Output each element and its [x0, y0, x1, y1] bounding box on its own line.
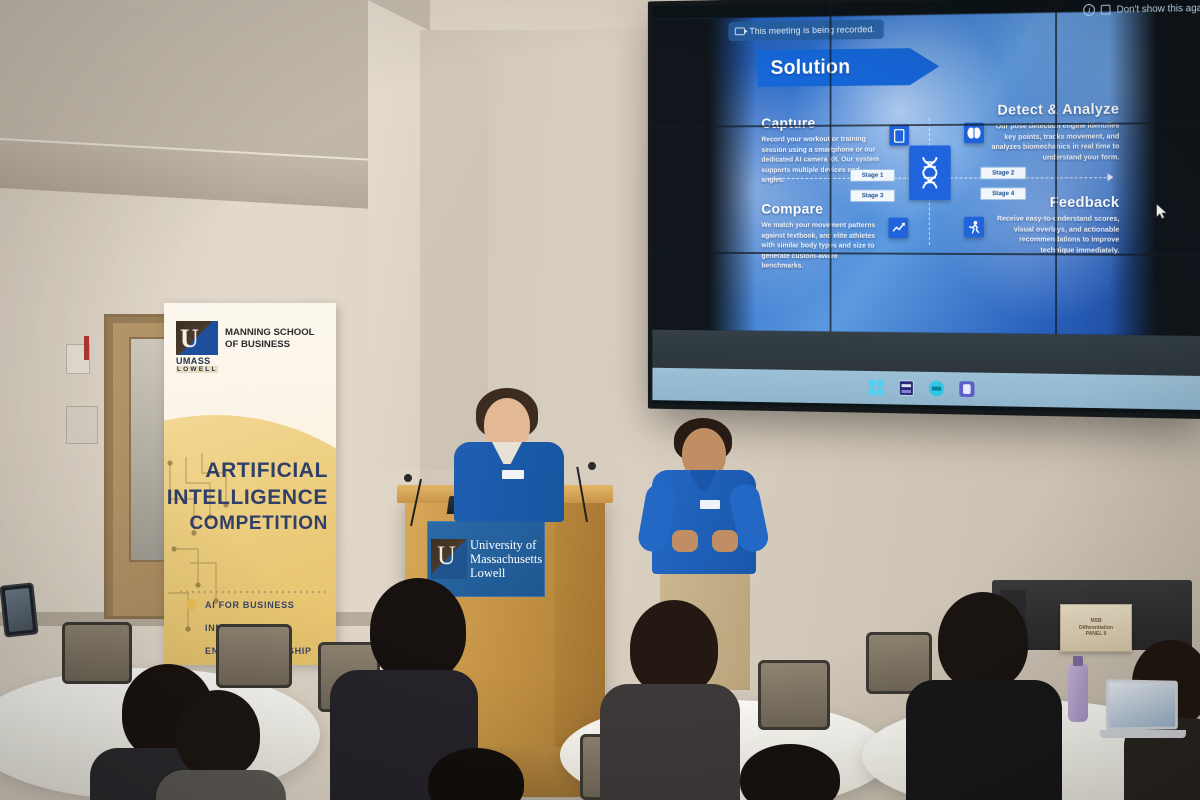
presenter-b-right-hand — [712, 530, 738, 552]
zoom-app-icon[interactable] — [929, 381, 944, 397]
podium-sign-line-1: University of — [470, 538, 542, 552]
audience-laptop — [1100, 680, 1186, 742]
dont-show-again-checkbox[interactable] — [1101, 5, 1111, 15]
audience-head — [938, 592, 1028, 690]
audience-head — [176, 690, 260, 778]
logo-lowell-text: LOWELL — [176, 366, 218, 373]
audience-head — [740, 744, 840, 800]
bullet-label-1: AI FOR BUSINESS — [205, 600, 295, 610]
podium-sign-line-3: Lowell — [470, 566, 542, 580]
feedback-body: Receive easy-to-understand scores, visua… — [984, 214, 1119, 256]
display-bezel-seam — [830, 3, 832, 332]
water-bottle — [1068, 664, 1088, 722]
smartphone-device-icon — [0, 582, 39, 637]
compare-body: We match your movement patterns against … — [761, 220, 882, 271]
slide-quadrant-compare: Compare We match your movement patterns … — [761, 201, 882, 272]
audience-member — [156, 690, 286, 800]
slide-quadrant-detect-analyze: Detect & Analyze Our pose detection engi… — [984, 101, 1119, 163]
umass-lowell-logo-mark: U UMASS LOWELL — [176, 321, 218, 373]
recording-banner-text: This meeting is being recorded. — [749, 24, 875, 37]
stage-label-2: Stage 2 — [980, 167, 1026, 180]
slide-quadrant-feedback: Feedback Receive easy-to-understand scor… — [984, 194, 1119, 256]
running-person-icon — [964, 217, 984, 238]
table-card-line-3: PANEL II — [1086, 631, 1107, 638]
microsoft-teams-icon[interactable] — [959, 381, 974, 397]
table-tent-card: MSB Differentiation PANEL II — [1060, 604, 1132, 652]
compare-heading: Compare — [761, 201, 882, 218]
audience-body — [906, 680, 1062, 800]
presenter-a-shirt-logo — [502, 470, 524, 479]
audience-head — [370, 578, 466, 682]
audience-head — [630, 600, 718, 696]
audience-member — [906, 592, 1062, 800]
flow-arrow-head — [1108, 173, 1114, 181]
presentation-room-scene: This meeting is being recorded. i Don't … — [0, 0, 1200, 800]
presenter-b-shirt-logo — [700, 500, 720, 509]
attendee-phone — [0, 584, 46, 654]
info-circle-icon: i — [1083, 4, 1095, 16]
capture-heading: Capture — [761, 115, 882, 132]
logo-monogram-block: U — [176, 321, 218, 355]
chair — [758, 660, 830, 730]
podium-sign-line-2: Massachusetts — [470, 552, 542, 566]
video-camera-icon — [735, 27, 745, 35]
detect-analyze-body: Our pose detection engine identifies key… — [984, 121, 1119, 163]
banner-title-line-2: INTELLIGENCE — [164, 486, 328, 510]
display-bezel-seam — [1055, 0, 1057, 334]
laptop-screen — [1106, 679, 1178, 731]
audience-member — [716, 744, 866, 800]
microphone-head-left — [404, 474, 412, 482]
microphone-head-right — [588, 462, 596, 470]
presenter-b-left-hand — [672, 530, 698, 552]
competition-banner: U UMASS LOWELL MANNING SCHOOL OF BUSINES… — [164, 303, 336, 665]
banner-title: ARTIFICIAL INTELLIGENCE COMPETITION — [164, 459, 328, 535]
slide-letterbox-left — [652, 18, 755, 331]
recording-banner: This meeting is being recorded. — [728, 19, 883, 41]
task-view-icon[interactable] — [899, 380, 914, 396]
podium-sign-text: University of Massachusetts Lowell — [470, 538, 542, 580]
slide-title: Solution — [771, 56, 851, 80]
audience-member — [406, 748, 546, 800]
slide-title-chevron: Solution — [758, 48, 940, 87]
banner-divider-dots — [180, 591, 326, 593]
audience-body — [156, 770, 286, 800]
windows-taskbar[interactable] — [652, 368, 1200, 410]
banner-school-name: MANNING SCHOOL OF BUSINESS — [225, 321, 315, 350]
dna-helix-icon — [909, 145, 951, 200]
banner-title-line-1: ARTIFICIAL — [164, 459, 328, 483]
display-screen: This meeting is being recorded. i Don't … — [652, 0, 1200, 414]
school-line-1: MANNING SCHOOL — [225, 327, 315, 339]
presenter-at-podium — [448, 388, 568, 518]
laptop-base — [1100, 730, 1186, 738]
stage-label-3: Stage 3 — [850, 189, 895, 202]
bullet-dot-icon — [186, 599, 197, 610]
dont-show-again-notice[interactable]: i Don't show this again — [1083, 2, 1200, 16]
logo-umass-text: UMASS — [176, 356, 218, 366]
audience-head — [428, 748, 524, 800]
video-wall-display[interactable]: This meeting is being recorded. i Don't … — [652, 0, 1200, 414]
school-line-2: OF BUSINESS — [225, 339, 315, 351]
banner-title-line-3: COMPETITION — [164, 513, 328, 535]
line-chart-icon — [888, 218, 908, 238]
logo-monogram: U — [180, 326, 199, 352]
banner-logo: U UMASS LOWELL MANNING SCHOOL OF BUSINES… — [176, 321, 315, 373]
stage-label-1: Stage 1 — [850, 169, 895, 182]
windows-start-icon[interactable] — [869, 380, 884, 396]
stage-label-4: Stage 4 — [980, 187, 1026, 200]
podium-logo-mark — [431, 539, 467, 579]
detect-analyze-heading: Detect & Analyze — [984, 101, 1119, 119]
light-switch-plate — [66, 406, 98, 444]
brain-icon — [964, 123, 984, 144]
list-item: AI FOR BUSINESS — [186, 599, 312, 610]
smartphone-icon — [889, 125, 909, 146]
dont-show-again-label: Don't show this again — [1117, 2, 1200, 15]
wall-accent-strip — [84, 336, 89, 360]
slide-letterbox-right — [1110, 10, 1200, 336]
